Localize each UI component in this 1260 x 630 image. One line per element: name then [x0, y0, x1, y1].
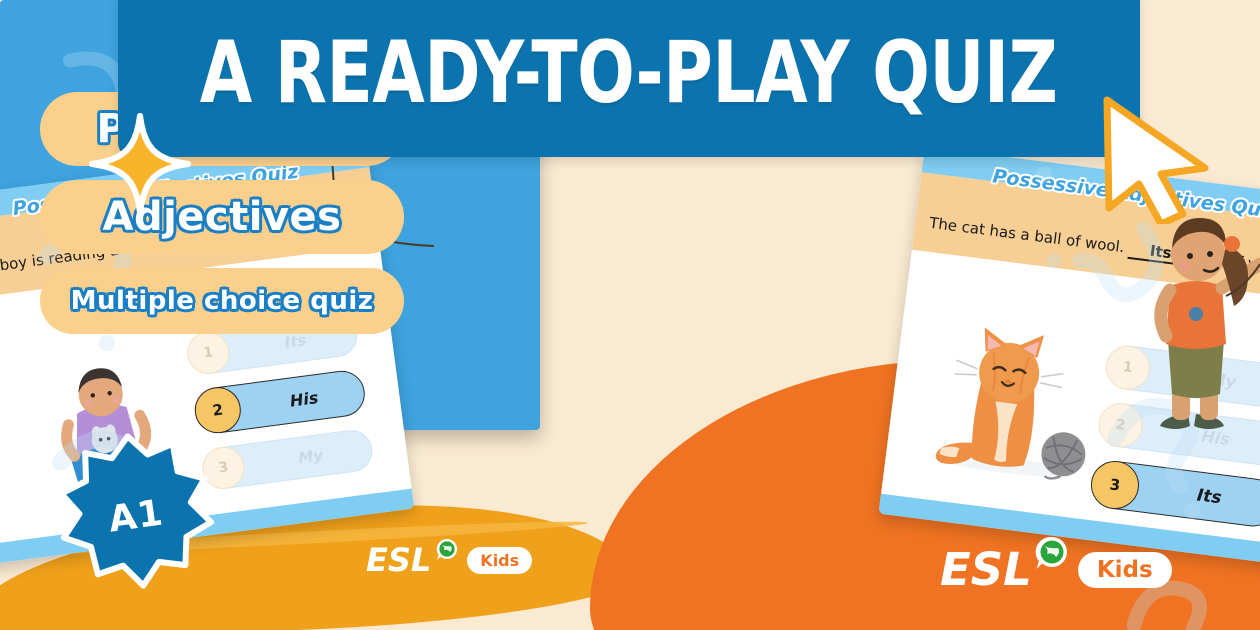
title-pill-3: Multiple choice quiz: [40, 268, 404, 334]
level-badge-label: A1: [45, 422, 227, 611]
four-point-star-icon: [88, 112, 192, 216]
kids-badge: Kids: [1078, 552, 1172, 588]
esl-kids-logo-main: ESL Kids: [940, 547, 1172, 592]
title-banner: A READY-TO-PLAY QUIZ: [118, 0, 1140, 157]
esl-wordmark: ESL: [366, 544, 431, 576]
globe-icon: [436, 539, 458, 568]
level-badge: A1: [56, 432, 216, 600]
esl-wordmark: ESL: [940, 547, 1032, 592]
mouse-cursor-icon[interactable]: [1093, 96, 1221, 224]
poster-canvas: Possessive Adjectives Quiz The boy is re…: [0, 0, 1260, 630]
banner-title: A READY-TO-PLAY QUIZ: [200, 31, 1058, 117]
esl-kids-logo-center: ESL Kids: [366, 544, 532, 576]
kids-badge: Kids: [467, 547, 532, 574]
globe-icon: [1035, 537, 1069, 580]
title-pill-text-3: Multiple choice quiz: [71, 286, 374, 316]
